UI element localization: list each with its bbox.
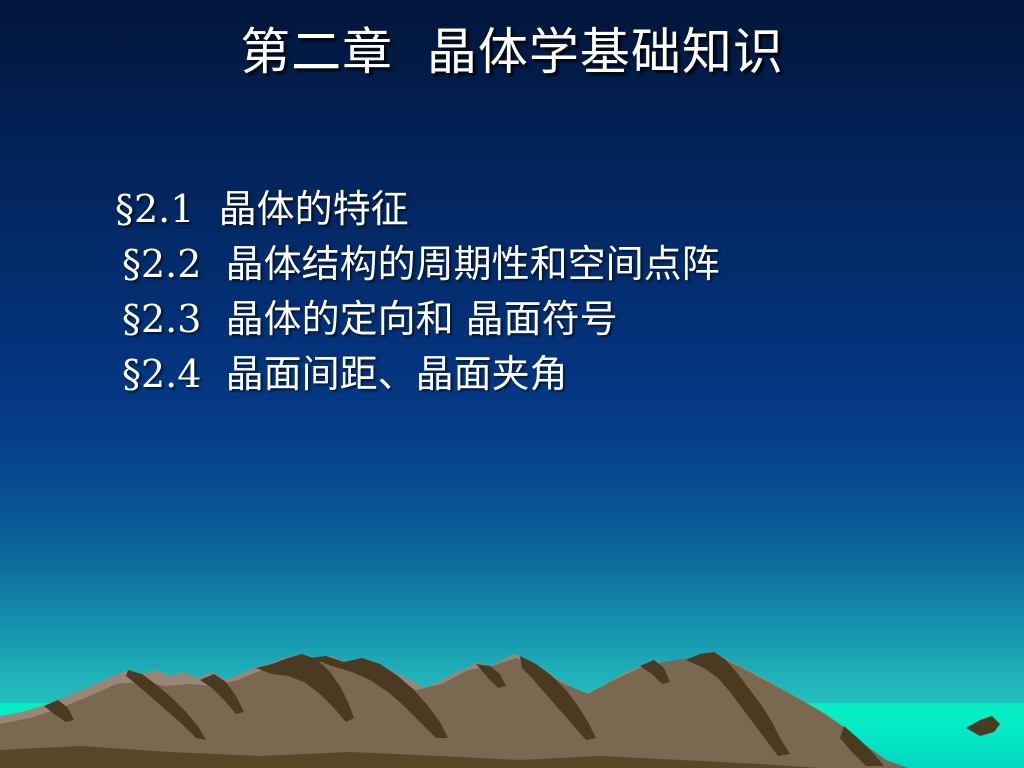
slide-canvas: 第二章 晶体学基础知识 §2.1 晶体的特征 §2.2 晶体结构的周期性和空间点…	[0, 0, 1024, 768]
outline-list: §2.1 晶体的特征 §2.2 晶体结构的周期性和空间点阵 §2.3 晶体的定向…	[112, 182, 972, 402]
mountain-range-graphic	[0, 628, 1024, 768]
page-title: 第二章 晶体学基础知识	[0, 22, 1024, 82]
list-item-2-4: §2.4 晶面间距、晶面夹角	[122, 347, 972, 402]
list-item-2-3: §2.3 晶体的定向和 晶面符号	[122, 292, 972, 347]
list-item-2-1: §2.1 晶体的特征	[115, 182, 972, 237]
list-item-2-2: §2.2 晶体结构的周期性和空间点阵	[122, 237, 972, 292]
